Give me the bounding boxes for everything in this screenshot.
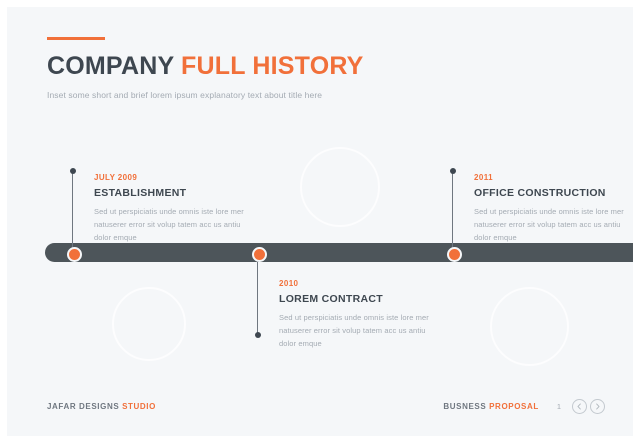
chevron-left-icon [577, 403, 582, 410]
header: COMPANY FULL HISTORY Inset some short an… [47, 37, 364, 100]
milestone-content: JULY 2009 ESTABLISHMENT Sed ut perspicia… [94, 173, 254, 244]
milestone-content: 2010 LOREM CONTRACT Sed ut perspiciatis … [279, 279, 439, 350]
milestone-title: LOREM CONTRACT [279, 293, 439, 305]
footer-brand: JAFAR DESIGNS STUDIO [47, 402, 156, 411]
connector-end-dot [450, 168, 456, 174]
footer: JAFAR DESIGNS STUDIO BUSNESS PROPOSAL 1 [47, 399, 605, 414]
milestone-content: 2011 OFFICE CONSTRUCTION Sed ut perspici… [474, 173, 634, 244]
timeline-node[interactable] [447, 247, 462, 262]
timeline-node[interactable] [67, 247, 82, 262]
timeline-bar: JULY 2009 ESTABLISHMENT Sed ut perspicia… [45, 243, 640, 262]
milestone-body: Sed ut perspiciatis unde omnis iste lore… [474, 205, 634, 244]
milestone-body: Sed ut perspiciatis unde omnis iste lore… [94, 205, 254, 244]
connector-stem [72, 171, 73, 253]
milestone-date: JULY 2009 [94, 173, 254, 182]
connector-stem [452, 171, 453, 253]
slide-canvas: COMPANY FULL HISTORY Inset some short an… [0, 0, 640, 443]
page-title-dark: COMPANY [47, 52, 174, 80]
page-number: 1 [557, 402, 561, 411]
connector-stem [257, 253, 258, 335]
document-title: BUSNESS PROPOSAL [443, 402, 538, 411]
connector-end-dot [70, 168, 76, 174]
milestone-date: 2011 [474, 173, 634, 182]
footer-nav: BUSNESS PROPOSAL 1 [443, 399, 605, 414]
page-subtitle: Inset some short and brief lorem ipsum e… [47, 90, 364, 100]
brand-name-accent: STUDIO [122, 402, 156, 411]
page-title-accent: FULL HISTORY [181, 52, 364, 80]
milestone-date: 2010 [279, 279, 439, 288]
brand-name: JAFAR DESIGNS STUDIO [47, 402, 156, 411]
prev-page-button[interactable] [572, 399, 587, 414]
timeline-node[interactable] [252, 247, 267, 262]
document-title-dark: BUSNESS [443, 402, 486, 411]
connector-end-dot [255, 332, 261, 338]
brand-name-dark: JAFAR DESIGNS [47, 402, 119, 411]
decorative-circle [490, 287, 569, 366]
chevron-right-icon [595, 403, 600, 410]
document-title-accent: PROPOSAL [489, 402, 539, 411]
milestone-title: ESTABLISHMENT [94, 187, 254, 199]
next-page-button[interactable] [590, 399, 605, 414]
decorative-circle [300, 147, 380, 227]
milestone-body: Sed ut perspiciatis unde omnis iste lore… [279, 311, 439, 350]
milestone-title: OFFICE CONSTRUCTION [474, 187, 634, 199]
page-title: COMPANY FULL HISTORY [47, 53, 364, 79]
accent-rule [47, 37, 105, 40]
decorative-circle [112, 287, 186, 361]
